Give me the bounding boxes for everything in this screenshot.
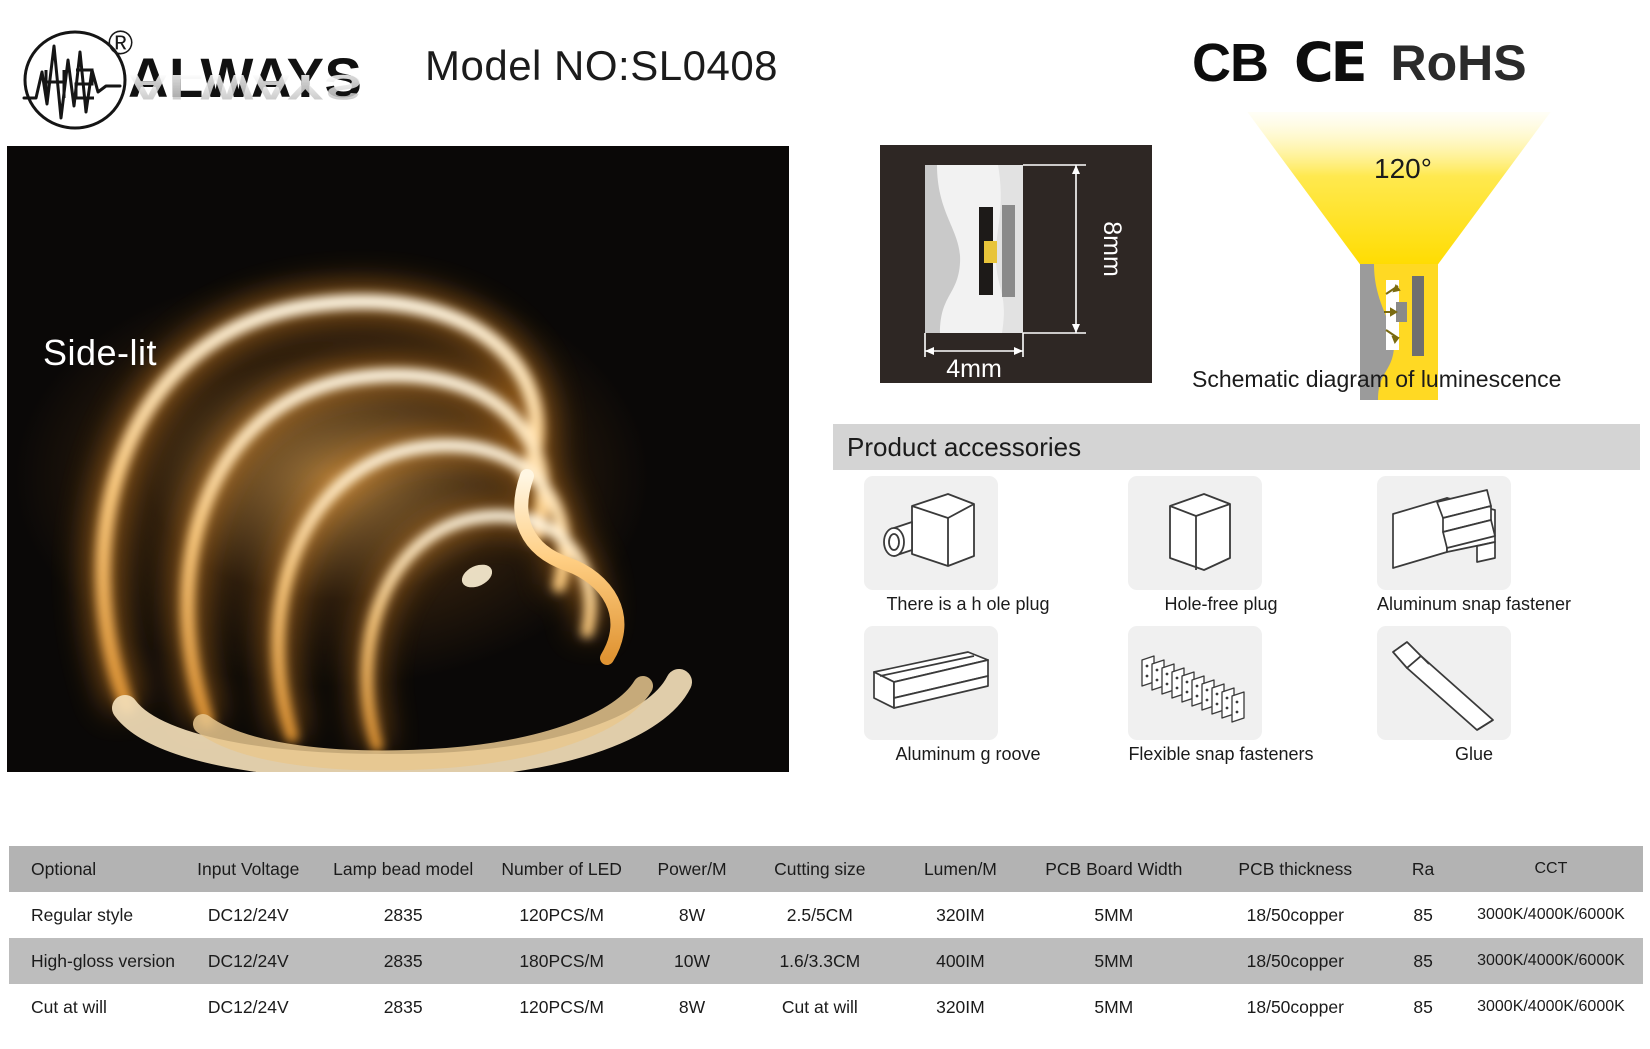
brand-name-reflection: ALWAYS — [128, 69, 362, 104]
accessory-label: Aluminum g roove — [833, 744, 1103, 765]
hero-label: Side-lit — [43, 332, 157, 374]
cell-lumen-m: 320IM — [897, 892, 1025, 938]
column-header-pcb-board-width: PCB Board Width — [1024, 846, 1203, 892]
cell-lamp-bead-model: 2835 — [324, 938, 482, 984]
cell-power-m: 8W — [641, 892, 743, 938]
cell-cutting-size: 2.5/5CM — [743, 892, 896, 938]
accessory-item[interactable]: There is a h ole plug — [833, 476, 1103, 626]
strip-cross-section-diagram-icon: 8mm 4mm — [880, 145, 1152, 383]
accessory-tile — [1128, 476, 1262, 590]
accessory-item[interactable]: Aluminum g roove — [833, 626, 1103, 776]
accessories-section-title: Product accessories — [847, 432, 1081, 463]
column-header-lamp-bead-model: Lamp bead model — [324, 846, 482, 892]
hole-free-plug-icon — [1128, 476, 1262, 590]
cell-optional: High-gloss version — [9, 938, 173, 984]
cell-cutting-size: Cut at will — [743, 984, 896, 1030]
product-photo: Side-lit — [7, 146, 789, 772]
column-header-cct: CCT — [1459, 846, 1643, 892]
spec-table-header: Optional Input Voltage Lamp bead model N… — [9, 846, 1643, 892]
cell-cct: 3000K/4000K/6000K — [1459, 984, 1643, 1030]
cell-number-of-led: 180PCS/M — [482, 938, 640, 984]
column-header-ra: Ra — [1387, 846, 1459, 892]
accessory-tile — [864, 476, 998, 590]
cell-pcb-thickness: 18/50copper — [1203, 938, 1387, 984]
accessories-grid: There is a h ole plug Hole-free plug — [833, 476, 1643, 776]
cell-ra: 85 — [1387, 984, 1459, 1030]
glue-tube-icon — [1377, 626, 1511, 740]
cell-ra: 85 — [1387, 938, 1459, 984]
column-header-number-of-led: Number of LED — [482, 846, 640, 892]
spec-table: Optional Input Voltage Lamp bead model N… — [9, 846, 1643, 1030]
model-number: Model NO:SL0408 — [425, 42, 778, 90]
height-dimension-label: 8mm — [1098, 221, 1126, 277]
accessory-tile — [1128, 626, 1262, 740]
accessories-row: There is a h ole plug Hole-free plug — [833, 476, 1643, 626]
accessories-row: Aluminum g roove — [833, 626, 1643, 776]
cell-lamp-bead-model: 2835 — [324, 892, 482, 938]
cell-ra: 85 — [1387, 892, 1459, 938]
accessory-item[interactable]: Hole-free plug — [1086, 476, 1356, 626]
cb-mark-icon: CB — [1192, 36, 1268, 90]
rohs-mark-icon: RoHS — [1391, 38, 1527, 88]
accessory-label: Flexible snap fasteners — [1086, 744, 1356, 765]
beam-diagram-caption: Schematic diagram of luminescence — [1192, 366, 1650, 393]
ce-mark-icon: CE — [1294, 36, 1365, 90]
aluminum-snap-fastener-icon — [1377, 476, 1511, 590]
accessory-item[interactable]: Flexible snap fasteners — [1086, 626, 1356, 776]
cell-cutting-size: 1.6/3.3CM — [743, 938, 896, 984]
cell-pcb-thickness: 18/50copper — [1203, 892, 1387, 938]
beam-angle-label: 120° — [1374, 153, 1432, 184]
column-header-lumen-m: Lumen/M — [897, 846, 1025, 892]
cross-section-panel: 8mm 4mm — [880, 145, 1152, 383]
cell-power-m: 8W — [641, 984, 743, 1030]
width-dimension-label: 4mm — [946, 355, 1002, 383]
cell-number-of-led: 120PCS/M — [482, 892, 640, 938]
cell-pcb-board-width: 5MM — [1024, 984, 1203, 1030]
cell-pcb-board-width: 5MM — [1024, 892, 1203, 938]
table-row: High-gloss version DC12/24V 2835 180PCS/… — [9, 938, 1643, 984]
certification-marks: CB CE RoHS — [1192, 36, 1527, 90]
column-header-pcb-thickness: PCB thickness — [1203, 846, 1387, 892]
specification-table: Optional Input Voltage Lamp bead model N… — [9, 846, 1643, 1030]
cell-optional: Regular style — [9, 892, 173, 938]
neon-strip-coil-illustration — [7, 146, 789, 772]
table-row: Regular style DC12/24V 2835 120PCS/M 8W … — [9, 892, 1643, 938]
flexible-snap-fasteners-icon — [1128, 626, 1262, 740]
accessory-label: Aluminum snap fastener — [1339, 594, 1609, 615]
light-beam-cone-diagram-icon: 120° — [1160, 112, 1645, 402]
accessory-label: Hole-free plug — [1086, 594, 1356, 615]
column-header-cutting-size: Cutting size — [743, 846, 896, 892]
beam-angle-diagram: 120° — [1160, 112, 1645, 402]
cell-pcb-thickness: 18/50copper — [1203, 984, 1387, 1030]
cell-number-of-led: 120PCS/M — [482, 984, 640, 1030]
cell-cct: 3000K/4000K/6000K — [1459, 892, 1643, 938]
aluminum-groove-icon — [864, 626, 998, 740]
cell-input-voltage: DC12/24V — [173, 938, 324, 984]
table-row: Cut at will DC12/24V 2835 120PCS/M 8W Cu… — [9, 984, 1643, 1030]
accessory-item[interactable]: Glue — [1339, 626, 1609, 776]
column-header-input-voltage: Input Voltage — [173, 846, 324, 892]
cell-lumen-m: 400IM — [897, 938, 1025, 984]
accessory-label: Glue — [1339, 744, 1609, 765]
table-header-row: Optional Input Voltage Lamp bead model N… — [9, 846, 1643, 892]
accessory-tile — [1377, 626, 1511, 740]
accessory-label: There is a h ole plug — [833, 594, 1103, 615]
cell-pcb-board-width: 5MM — [1024, 938, 1203, 984]
accessory-tile — [864, 626, 998, 740]
column-header-power-m: Power/M — [641, 846, 743, 892]
cell-input-voltage: DC12/24V — [173, 984, 324, 1030]
hole-plug-icon — [864, 476, 998, 590]
cell-lumen-m: 320IM — [897, 984, 1025, 1030]
accessory-item[interactable]: Aluminum snap fastener — [1339, 476, 1609, 626]
cell-lamp-bead-model: 2835 — [324, 984, 482, 1030]
spec-table-body: Regular style DC12/24V 2835 120PCS/M 8W … — [9, 892, 1643, 1030]
column-header-optional: Optional — [9, 846, 173, 892]
cell-input-voltage: DC12/24V — [173, 892, 324, 938]
cell-cct: 3000K/4000K/6000K — [1459, 938, 1643, 984]
accessory-tile — [1377, 476, 1511, 590]
cell-optional: Cut at will — [9, 984, 173, 1030]
brand-logo: ® ALWAYS ALWAYS — [8, 8, 368, 138]
cell-power-m: 10W — [641, 938, 743, 984]
